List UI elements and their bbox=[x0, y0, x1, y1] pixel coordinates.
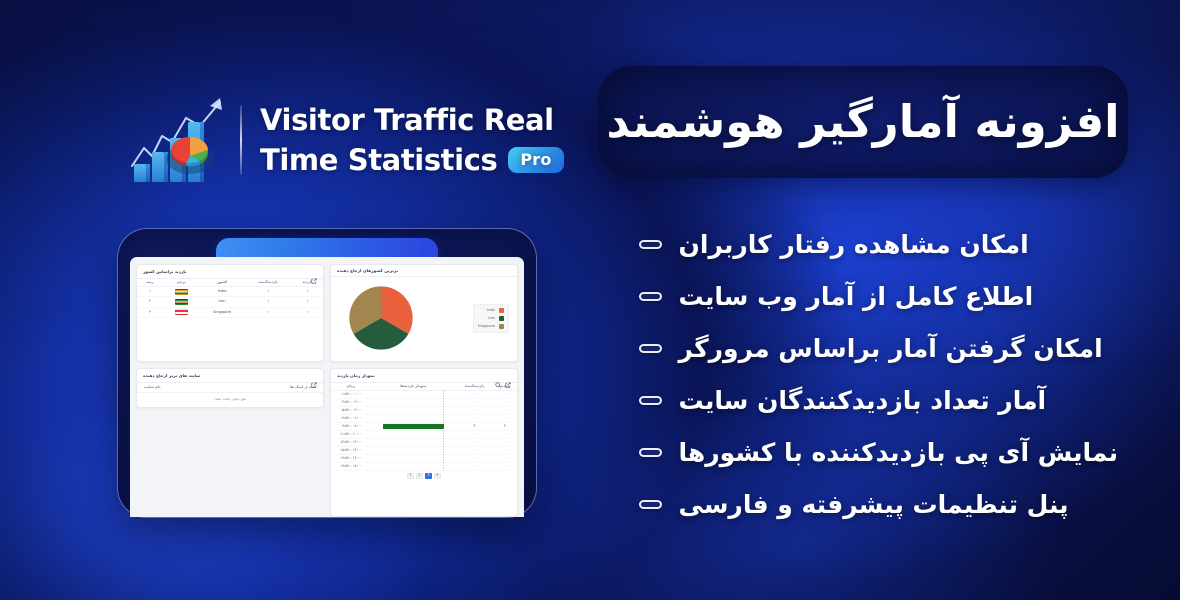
cell-time: ۱۰:۰۰ - ۱۱:۵۹ bbox=[331, 431, 371, 439]
dash-bullet-icon bbox=[639, 396, 662, 405]
cell-visitors: ۰ bbox=[456, 454, 493, 462]
bar-track bbox=[374, 456, 454, 461]
table-row: ۳ ۳ ۰۸:۰۰ - ۰۹:۵۹ bbox=[331, 423, 517, 431]
legend-label: Singapore bbox=[478, 325, 495, 328]
cell-time: ۰۰:۰۰ - ۰۱:۵۹ bbox=[331, 391, 371, 399]
bar-track bbox=[374, 464, 454, 469]
cell-rank: ۱ bbox=[137, 286, 163, 296]
cell-flag bbox=[163, 297, 199, 307]
flag-icon-singapore bbox=[175, 309, 188, 315]
bar-track bbox=[374, 416, 454, 421]
dashboard-screen: برترین کشورهای ارجاع دهنده India Iran bbox=[130, 257, 524, 517]
feature-item: امکان گرفتن آمار براساس مرورگر bbox=[639, 322, 1118, 374]
cell-visitors: ۳ bbox=[456, 423, 493, 431]
page-button[interactable]: 1 bbox=[407, 473, 414, 479]
bar-track bbox=[374, 424, 454, 429]
pie-chart bbox=[345, 282, 417, 354]
panel-title: سایت های برتر ارجاع دهنده bbox=[143, 374, 200, 378]
cell-visitors: ۰ bbox=[456, 391, 493, 399]
cell-flag bbox=[163, 286, 199, 296]
cell-visitors: ۰ bbox=[456, 399, 493, 407]
cell-visits: ۰ bbox=[493, 454, 517, 462]
cell-time: ۱۸:۰۰ - ۱۹:۵۹ bbox=[331, 462, 371, 470]
legend-label: Iran bbox=[488, 317, 495, 320]
feature-list: امکان مشاهده رفتار کاربران اطلاع کامل از… bbox=[639, 218, 1118, 530]
cell-visits: ۰ bbox=[493, 407, 517, 415]
cell-visitors: ۰ bbox=[456, 431, 493, 439]
table-row: ۰ ۰ ۱۶:۰۰ - ۱۷:۵۹ bbox=[331, 454, 517, 462]
bar-track bbox=[374, 440, 454, 445]
panel-title: نمودار زمان بازدید bbox=[337, 374, 375, 378]
table-row: ۱ ۱ Iran ۲ bbox=[137, 297, 323, 307]
dash-bullet-icon bbox=[639, 240, 662, 249]
page-button[interactable]: 2 bbox=[416, 473, 423, 479]
logo-divider bbox=[240, 105, 242, 175]
flag-icon-iran bbox=[175, 299, 188, 305]
country-table: بازدید بازدیدکننده کشور پرچم رتبه ۱ ۱ In… bbox=[137, 279, 323, 318]
table-row: ۰ ۰ ۰۶:۰۰ - ۰۷:۵۹ bbox=[331, 415, 517, 423]
brand-logo-block: Visitor Traffic Real Time Statistics Pro bbox=[128, 92, 564, 188]
expand-icon[interactable] bbox=[311, 269, 317, 275]
cell-visits: ۰ bbox=[493, 391, 517, 399]
cell-visitors: ۰ bbox=[456, 438, 493, 446]
col-country: کشور bbox=[199, 279, 244, 286]
cell-visits: ۰ bbox=[493, 462, 517, 470]
panel-header: برترین کشورهای ارجاع دهنده bbox=[331, 265, 517, 277]
cell-time: ۱۴:۰۰ - ۱۵:۵۹ bbox=[331, 446, 371, 454]
table-row: ۱ ۱ Singapore ۳ bbox=[137, 307, 323, 317]
pie-chart-area: India Iran Singapore bbox=[331, 277, 517, 361]
legend-swatch bbox=[499, 308, 504, 313]
col-flag: پرچم bbox=[163, 279, 199, 286]
feature-item: پنل تنظیمات پیشرفته و فارسی bbox=[639, 478, 1118, 530]
panel-top-referring-sites: سایت های برتر ارجاع دهنده همه ی لینک ها … bbox=[136, 368, 324, 408]
bar-track bbox=[374, 408, 454, 413]
panel-tools bbox=[495, 373, 511, 379]
cell-visits: ۳ bbox=[493, 423, 517, 431]
table-row: ۰ ۰ ۱۲:۰۰ - ۱۳:۵۹ bbox=[331, 438, 517, 446]
cell-visitors: ۱ bbox=[245, 297, 292, 307]
cell-visits: ۰ bbox=[493, 446, 517, 454]
cell-visits: ۰ bbox=[493, 438, 517, 446]
col-site-name: نام سایت bbox=[144, 386, 161, 390]
search-icon[interactable] bbox=[495, 373, 501, 379]
flag-icon-india bbox=[175, 289, 188, 295]
bar-track bbox=[374, 400, 454, 405]
cell-visits: ۰ bbox=[493, 415, 517, 423]
feature-label: نمایش آی پی بازدیدکننده با کشورها bbox=[679, 440, 1118, 465]
expand-icon[interactable] bbox=[311, 373, 317, 379]
cell-visits: ۰ bbox=[493, 399, 517, 407]
bar-fill bbox=[383, 424, 443, 429]
cell-visits: ۱ bbox=[292, 307, 323, 317]
feature-label: آمار تعداد بازدیدکنندگان سایت bbox=[679, 388, 1047, 413]
panel-top-countries-pie: برترین کشورهای ارجاع دهنده India Iran bbox=[330, 264, 518, 362]
cell-rank: ۲ bbox=[137, 297, 163, 307]
cell-time: ۱۶:۰۰ - ۱۷:۵۹ bbox=[331, 454, 371, 462]
cell-country: India bbox=[199, 286, 244, 296]
cell-visits: ۱ bbox=[292, 286, 323, 296]
table-row: ۰ ۰ ۱۰:۰۰ - ۱۱:۵۹ bbox=[331, 431, 517, 439]
cell-visitors: ۰ bbox=[456, 407, 493, 415]
cell-visitors: ۰ bbox=[456, 462, 493, 470]
feature-item: آمار تعداد بازدیدکنندگان سایت bbox=[639, 374, 1118, 426]
feature-label: امکان مشاهده رفتار کاربران bbox=[679, 232, 1029, 257]
dash-bullet-icon bbox=[639, 292, 662, 301]
cell-visitors: ۰ bbox=[456, 446, 493, 454]
col-visitors: بازدیدکننده bbox=[456, 383, 493, 390]
feature-item: اطلاع کامل از آمار وب سایت bbox=[639, 270, 1118, 322]
dash-bullet-icon bbox=[639, 448, 662, 457]
empty-state-message: هیچ دیتایی یافت نشد! bbox=[137, 393, 323, 408]
panel-title: برترین کشورهای ارجاع دهنده bbox=[337, 269, 398, 273]
page-button[interactable]: 4 bbox=[434, 473, 441, 479]
table-row: ۰ ۰ ۱۴:۰۰ - ۱۵:۵۹ bbox=[331, 446, 517, 454]
wordmark-line-2: Time Statistics Pro bbox=[260, 141, 564, 179]
cell-visitors: ۱ bbox=[245, 307, 292, 317]
visit-time-table: بازدید بازدیدکننده نمودار بازدیدها زمان … bbox=[331, 383, 517, 471]
cell-visits: ۱ bbox=[292, 297, 323, 307]
cell-time: ۰۸:۰۰ - ۰۹:۵۹ bbox=[331, 423, 371, 431]
pie-legend: India Iran Singapore bbox=[473, 304, 509, 333]
panel-header: بازدید براساس کشور bbox=[137, 265, 323, 279]
bar-track bbox=[374, 392, 454, 397]
panel-header: سایت های برتر ارجاع دهنده bbox=[137, 369, 323, 383]
bar-track bbox=[374, 448, 454, 453]
legend-swatch bbox=[499, 324, 504, 329]
expand-icon[interactable] bbox=[505, 373, 511, 379]
panel-title: بازدید براساس کشور bbox=[143, 270, 186, 274]
cell-flag bbox=[163, 307, 199, 317]
dash-bullet-icon bbox=[639, 500, 662, 509]
table-header-row: بازدید بازدیدکننده نمودار بازدیدها زمان bbox=[331, 383, 517, 390]
col-rank: رتبه bbox=[137, 279, 163, 286]
pro-badge: Pro bbox=[508, 147, 563, 173]
wordmark-line-1: Visitor Traffic Real bbox=[260, 101, 564, 139]
legend-item: India bbox=[478, 308, 504, 313]
panel-visit-time-chart: نمودار زمان بازدید بازدید بازدیدکننده نم… bbox=[330, 368, 518, 517]
cell-time: ۰۴:۰۰ - ۰۵:۵۹ bbox=[331, 407, 371, 415]
legend-label: India bbox=[487, 309, 495, 312]
wordmark: Visitor Traffic Real Time Statistics Pro bbox=[260, 101, 564, 180]
table-row: ۰ ۰ ۰۲:۰۰ - ۰۳:۵۹ bbox=[331, 399, 517, 407]
wordmark-line-2-text: Time Statistics bbox=[260, 141, 497, 179]
cell-rank: ۳ bbox=[137, 307, 163, 317]
cell-bar bbox=[371, 462, 457, 470]
table-header-row: بازدید بازدیدکننده کشور پرچم رتبه bbox=[137, 279, 323, 286]
cell-time: ۰۶:۰۰ - ۰۷:۵۹ bbox=[331, 415, 371, 423]
headline-title: افزونه آمارگیر هوشمند bbox=[606, 99, 1119, 144]
cell-time: ۰۲:۰۰ - ۰۳:۵۹ bbox=[331, 399, 371, 407]
panel-body: همه ی لینک ها نام سایت هیچ دیتایی یافت ن… bbox=[137, 383, 323, 407]
legend-item: Iran bbox=[478, 316, 504, 321]
headline-banner: افزونه آمارگیر هوشمند bbox=[598, 66, 1128, 178]
feature-item: نمایش آی پی بازدیدکننده با کشورها bbox=[639, 426, 1118, 478]
col-visits: بازدید bbox=[292, 279, 323, 286]
panel-header: نمودار زمان بازدید bbox=[331, 369, 517, 383]
bar-track bbox=[374, 432, 454, 437]
col-time: زمان bbox=[331, 383, 371, 390]
bar-axis bbox=[443, 462, 444, 471]
col-visitors: بازدیدکننده bbox=[245, 279, 292, 286]
table-row: ۱ ۱ India ۱ bbox=[137, 286, 323, 296]
table-row: ۰ ۰ ۰۰:۰۰ - ۰۱:۵۹ bbox=[331, 391, 517, 399]
col-all-links: همه ی لینک ها bbox=[290, 386, 316, 390]
legend-item: Singapore bbox=[478, 324, 504, 329]
bar-chart-pie-icon bbox=[128, 92, 228, 188]
cell-time: ۱۲:۰۰ - ۱۳:۵۹ bbox=[331, 438, 371, 446]
feature-label: امکان گرفتن آمار براساس مرورگر bbox=[679, 336, 1103, 361]
page-button-active[interactable]: 3 bbox=[425, 473, 432, 479]
col-visits: بازدید bbox=[493, 383, 517, 390]
table-header-row: همه ی لینک ها نام سایت bbox=[137, 383, 323, 393]
feature-label: اطلاع کامل از آمار وب سایت bbox=[679, 284, 1034, 309]
feature-item: امکان مشاهده رفتار کاربران bbox=[639, 218, 1118, 270]
dash-bullet-icon bbox=[639, 344, 662, 353]
cell-country: Iran bbox=[199, 297, 244, 307]
cell-visitors: ۱ bbox=[245, 286, 292, 296]
pagination: 1 2 3 4 bbox=[331, 471, 517, 480]
cell-visits: ۰ bbox=[493, 431, 517, 439]
feature-label: پنل تنظیمات پیشرفته و فارسی bbox=[679, 492, 1069, 517]
panel-visits-by-country: بازدید براساس کشور بازدید بازدیدکننده کش… bbox=[136, 264, 324, 362]
tablet-mockup: برترین کشورهای ارجاع دهنده India Iran bbox=[117, 228, 537, 518]
cell-country: Singapore bbox=[199, 307, 244, 317]
table-row: ۰ ۰ ۱۸:۰۰ - ۱۹:۵۹ bbox=[331, 462, 517, 470]
legend-swatch bbox=[499, 316, 504, 321]
table-row: ۰ ۰ ۰۴:۰۰ - ۰۵:۵۹ bbox=[331, 407, 517, 415]
cell-visitors: ۰ bbox=[456, 415, 493, 423]
